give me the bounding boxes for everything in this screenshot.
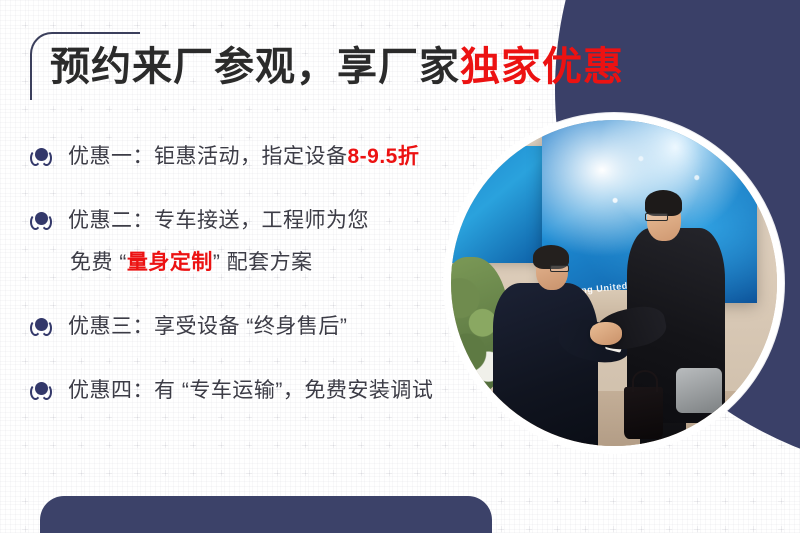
list-item: 优惠二：专车接送，工程师为您 免费 “量身定制” 配套方案: [30, 200, 475, 284]
benefits-list: 优惠一：钜惠活动，指定设备8-9.5折 优惠二：专车接送，工程师为您 免费 “量…: [30, 136, 475, 434]
photo-handbag: [624, 387, 663, 439]
photo-side-screen: [451, 146, 542, 263]
list-item-highlight: 量身定制: [127, 251, 213, 274]
navy-bottom-bar: [40, 496, 492, 533]
bullet-arc-left: [30, 384, 41, 400]
bullet-arc-right: [41, 150, 52, 166]
photo-handshake-hands: [590, 322, 623, 345]
promo-banner: 预约来厂参观，享厂家独家优惠 优惠一：钜惠活动，指定设备8-9.5折 优惠二：专…: [0, 0, 800, 533]
list-item: 优惠三：享受设备 “终身售后”: [30, 306, 475, 348]
bullet-arc-left: [30, 150, 41, 166]
list-item-line: 免费 “量身定制” 配套方案: [70, 242, 475, 284]
headline-accent-text: 独家优惠: [460, 45, 624, 89]
list-item-text: 优惠三：享受设备 “终身售后”: [68, 315, 347, 338]
photo-person-left-body: [493, 283, 597, 446]
bullet-arc-right: [41, 384, 52, 400]
bullet-arc-right: [41, 214, 52, 230]
list-item-line: 优惠四：有 “专车运输”，免费安装调试: [68, 370, 475, 412]
list-item-text: 免费 “: [70, 251, 127, 274]
list-item-line: 优惠二：专车接送，工程师为您: [68, 200, 475, 242]
bullet-dot-arc-icon: [30, 380, 54, 402]
list-item-line: 优惠三：享受设备 “终身售后”: [68, 306, 475, 348]
handshake-photo: ng United ited: [444, 113, 784, 453]
page-title: 预约来厂参观，享厂家独家优惠: [50, 47, 624, 87]
list-item-text: 优惠四：有 “专车运输”，免费安装调试: [68, 379, 433, 402]
bullet-dot-arc-icon: [30, 146, 54, 168]
bullet-dot-arc-icon: [30, 316, 54, 338]
photo-briefcase: [676, 368, 722, 414]
list-item: 优惠四：有 “专车运输”，免费安装调试: [30, 370, 475, 412]
headline-plain-text: 预约来厂参观，享厂家: [50, 45, 460, 89]
photo-person-right-glasses: [645, 213, 668, 221]
list-item-text: ” 配套方案: [213, 251, 313, 274]
list-item-highlight: 8-9.5折: [348, 145, 420, 168]
bullet-dot-arc-icon: [30, 210, 54, 232]
handshake-photo-image: ng United ited: [451, 120, 777, 446]
bullet-arc-left: [30, 214, 41, 230]
bullet-arc-left: [30, 320, 41, 336]
list-item: 优惠一：钜惠活动，指定设备8-9.5折: [30, 136, 475, 178]
list-item-text: 优惠一：钜惠活动，指定设备: [68, 145, 348, 168]
photo-person-left-glasses: [550, 265, 568, 272]
bullet-arc-right: [41, 320, 52, 336]
list-item-line: 优惠一：钜惠活动，指定设备8-9.5折: [68, 136, 475, 178]
list-item-text: 优惠二：专车接送，工程师为您: [68, 209, 369, 232]
